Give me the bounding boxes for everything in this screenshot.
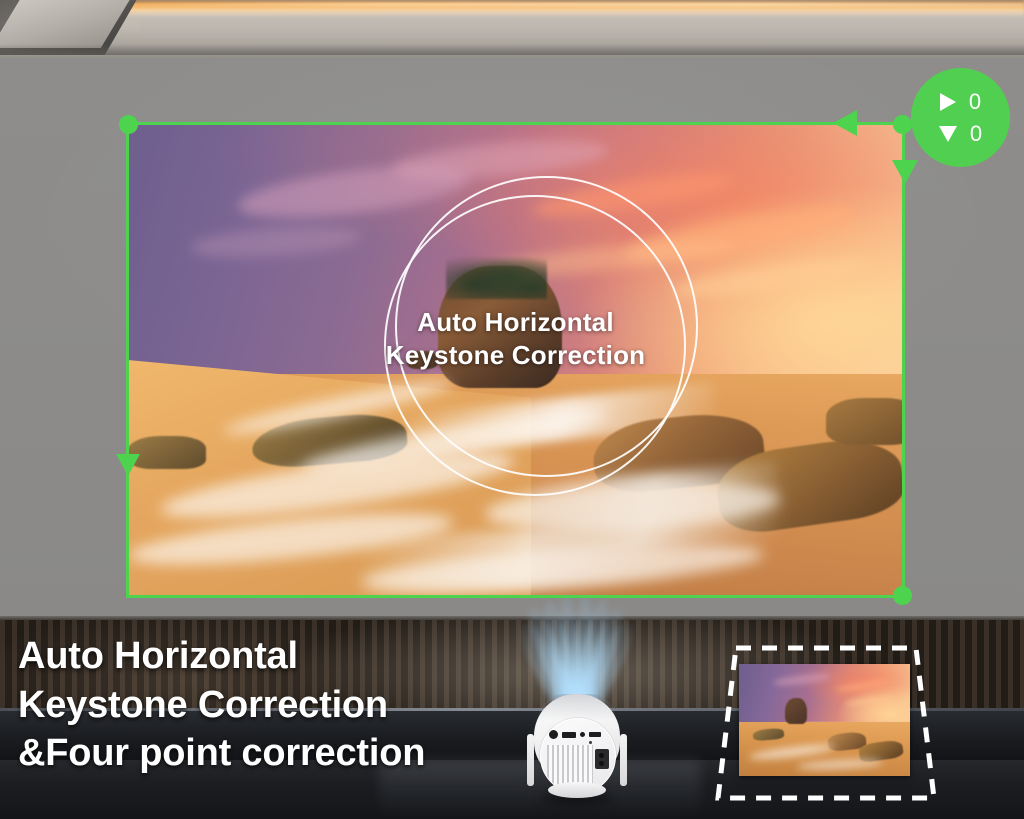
arrow-down-icon (939, 126, 957, 142)
screenshot-stage: Auto Horizontal Keystone Correction 0 0 (0, 0, 1024, 819)
projector-stand-left (527, 734, 534, 786)
projector-stand-right (620, 734, 627, 786)
horizontal-value: 0 (969, 91, 981, 113)
badge-row-vertical: 0 (939, 120, 982, 148)
port-row (549, 730, 607, 739)
keystone-frame[interactable] (126, 122, 905, 598)
caption-line-3: &Four point correction (18, 729, 425, 778)
keystone-value-badge[interactable]: 0 0 (911, 68, 1010, 167)
ac-inlet-pin (599, 753, 604, 758)
vent-grille (547, 745, 593, 785)
cove-light-core (96, 2, 1024, 7)
ac-inlet (595, 749, 609, 769)
usb-port-icon (589, 732, 601, 737)
adjust-arrow-down-icon[interactable] (892, 160, 918, 184)
badge-row-horizontal: 0 (940, 88, 981, 116)
adjust-arrow-left-icon[interactable] (833, 110, 857, 136)
keystone-handle-top-right[interactable] (893, 115, 912, 134)
aux-port-icon (580, 732, 585, 737)
projector-top-shade (538, 694, 616, 720)
preview-islet (785, 698, 807, 725)
ac-inlet-pin (599, 761, 604, 766)
vertical-value: 0 (970, 123, 982, 145)
keystone-handle-bottom-right[interactable] (893, 586, 912, 605)
correction-preview[interactable] (712, 642, 938, 806)
projector-base (548, 782, 606, 798)
projection-area[interactable]: Auto Horizontal Keystone Correction (128, 124, 903, 596)
caption-line-1: Auto Horizontal (18, 632, 425, 681)
preview-photo (739, 664, 910, 776)
marketing-caption: Auto Horizontal Keystone Correction &Fou… (18, 632, 425, 778)
status-led (589, 741, 592, 744)
adjust-arrow-down-left-icon[interactable] (116, 454, 140, 476)
arrow-right-icon (940, 93, 956, 111)
ceiling (0, 0, 1024, 58)
caption-line-2: Keystone Correction (18, 681, 425, 730)
power-jack-icon (549, 730, 558, 739)
keystone-handle-top-left[interactable] (119, 115, 138, 134)
projector-device[interactable] (524, 694, 630, 802)
hdmi-port-icon (562, 732, 576, 738)
